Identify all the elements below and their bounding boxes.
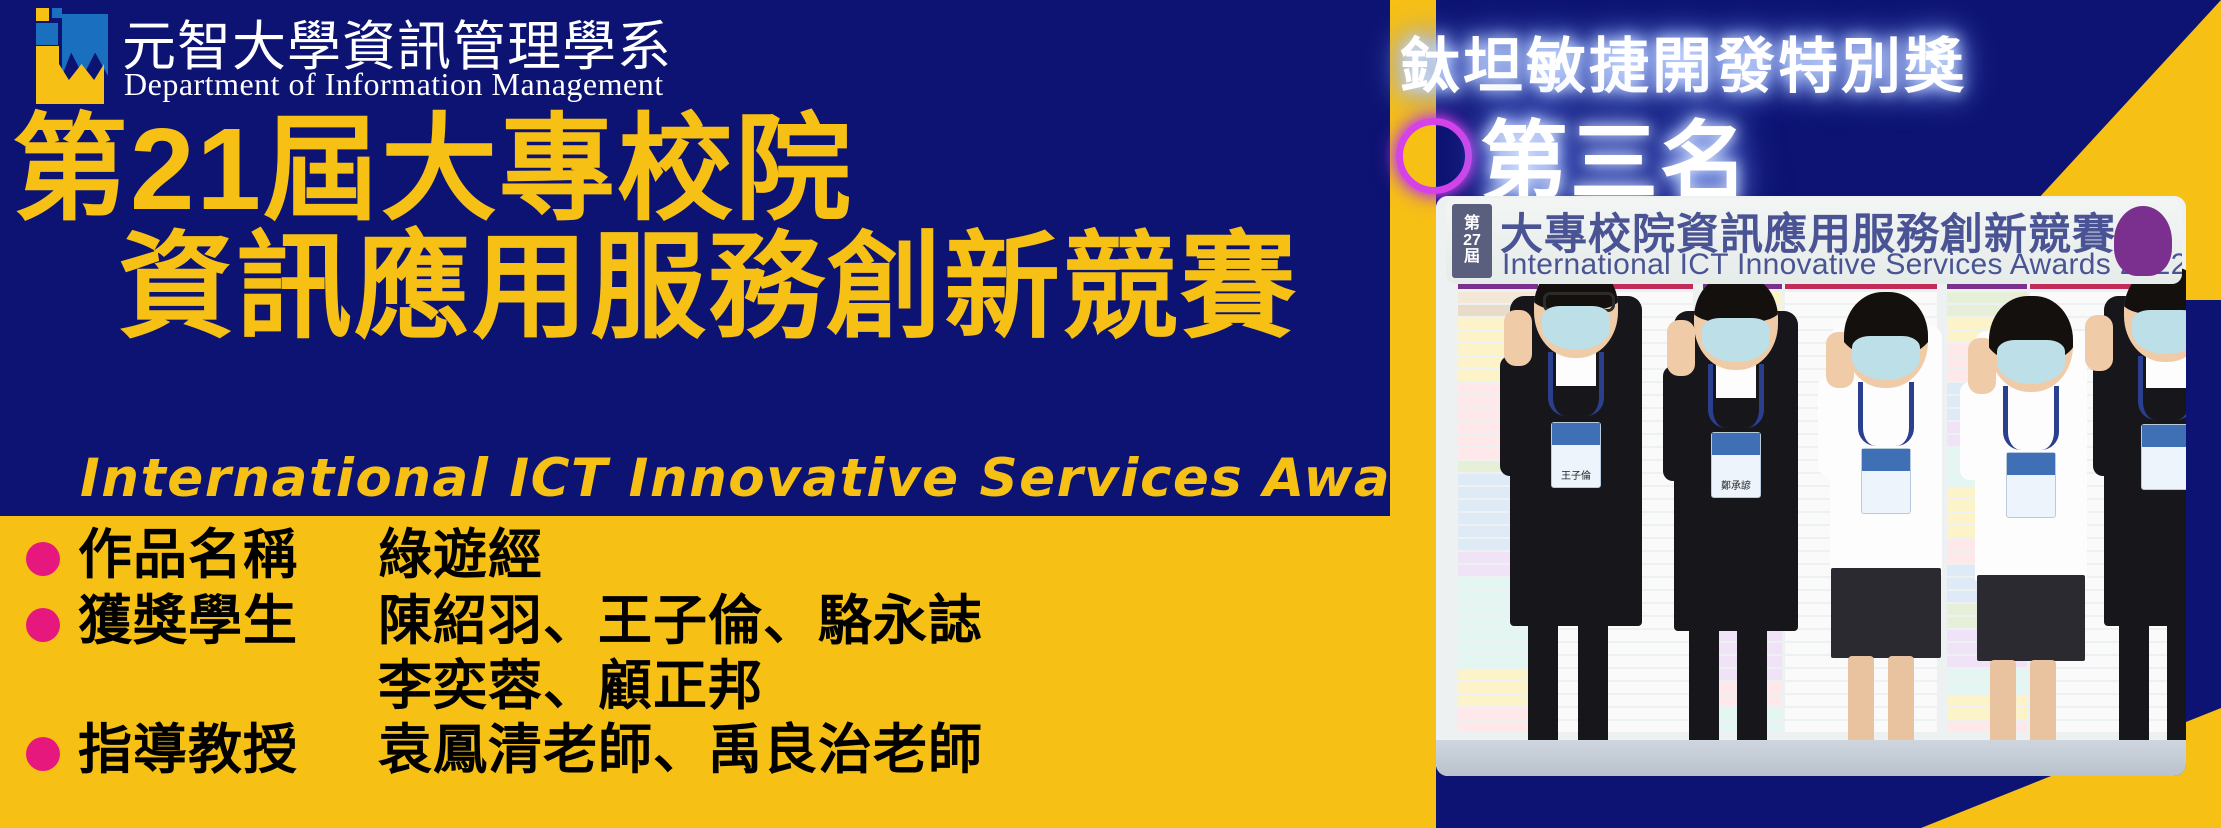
detail-value-continued: 李奕蓉、顧正邦: [378, 655, 1366, 719]
list-item: 指導教授 袁鳳清老師、禹良治老師: [26, 719, 1366, 783]
edition-badge-line1: 第: [1464, 216, 1480, 233]
mascot-icon: [2114, 206, 2172, 276]
name-badge: [1861, 448, 1911, 514]
headline-line-1: 第21屆大專校院: [12, 110, 853, 228]
banner-title-en: International ICT Innovative Services Aw…: [1502, 248, 2182, 282]
name-badge: [2141, 424, 2186, 490]
competition-backdrop-banner: 第 27 屆 大專校院資訊應用服務創新競賽 International ICT …: [1446, 198, 2182, 284]
badge-name-text: 鄭承諺: [1712, 477, 1760, 492]
person-figure: 鄭承諺: [1661, 286, 1811, 776]
detail-value: 袁鳳清老師、禹良治老師: [378, 719, 983, 783]
badge-name-text: 王子倫: [1552, 467, 1600, 482]
detail-label: 作品名稱: [78, 524, 378, 588]
detail-label: 獲獎學生: [78, 590, 378, 654]
person-figure: [2091, 276, 2186, 776]
award-poster: YZU 元智大學資訊管理學系 Department of Information…: [0, 0, 2221, 828]
circle-outline-icon: [1396, 118, 1472, 194]
detail-value: 綠遊經: [378, 524, 543, 588]
person-figure: [1816, 306, 1956, 776]
award-details-list: 作品名稱 綠遊經 獲獎學生 陳紹羽、王子倫、駱永誌 李奕蓉、顧正邦 指導教授 袁…: [26, 524, 1366, 785]
name-badge: 王子倫: [1551, 422, 1601, 488]
name-badge: 鄭承諺: [1711, 432, 1761, 498]
team-photo: 王子倫 鄭承諺: [1436, 196, 2186, 776]
person-figure: 王子倫: [1496, 276, 1656, 776]
detail-value: 陳紹羽、王子倫、駱永誌: [378, 590, 983, 654]
yzu-logo-mark-icon: YZU: [22, 6, 108, 106]
edition-badge-line2: 27: [1463, 233, 1481, 250]
bullet-dot-icon: [26, 608, 60, 642]
department-name-en: Department of Information Management: [124, 66, 664, 103]
university-logo: YZU 元智大學資訊管理學系 Department of Information…: [22, 4, 762, 108]
detail-label: 指導教授: [78, 719, 378, 783]
bullet-dot-icon: [26, 737, 60, 771]
edition-badge: 第 27 屆: [1452, 204, 1492, 278]
edition-badge-line3: 屆: [1464, 249, 1480, 266]
photo-floor: [1436, 740, 2186, 776]
name-badge: [2006, 452, 2056, 518]
list-item: 作品名稱 綠遊經: [26, 524, 1366, 588]
photo-people-group: 王子倫 鄭承諺: [1436, 276, 2186, 776]
list-item: 獲獎學生 陳紹羽、王子倫、駱永誌 李奕蓉、顧正邦: [26, 590, 1366, 719]
headline-line-2: 資訊應用服務創新競賽: [118, 228, 1298, 346]
person-figure: [1956, 301, 2106, 776]
bullet-dot-icon: [26, 542, 60, 576]
headline-line-en: International ICT Innovative Services Aw…: [80, 452, 1665, 505]
yzu-acronym: YZU: [86, 20, 103, 56]
